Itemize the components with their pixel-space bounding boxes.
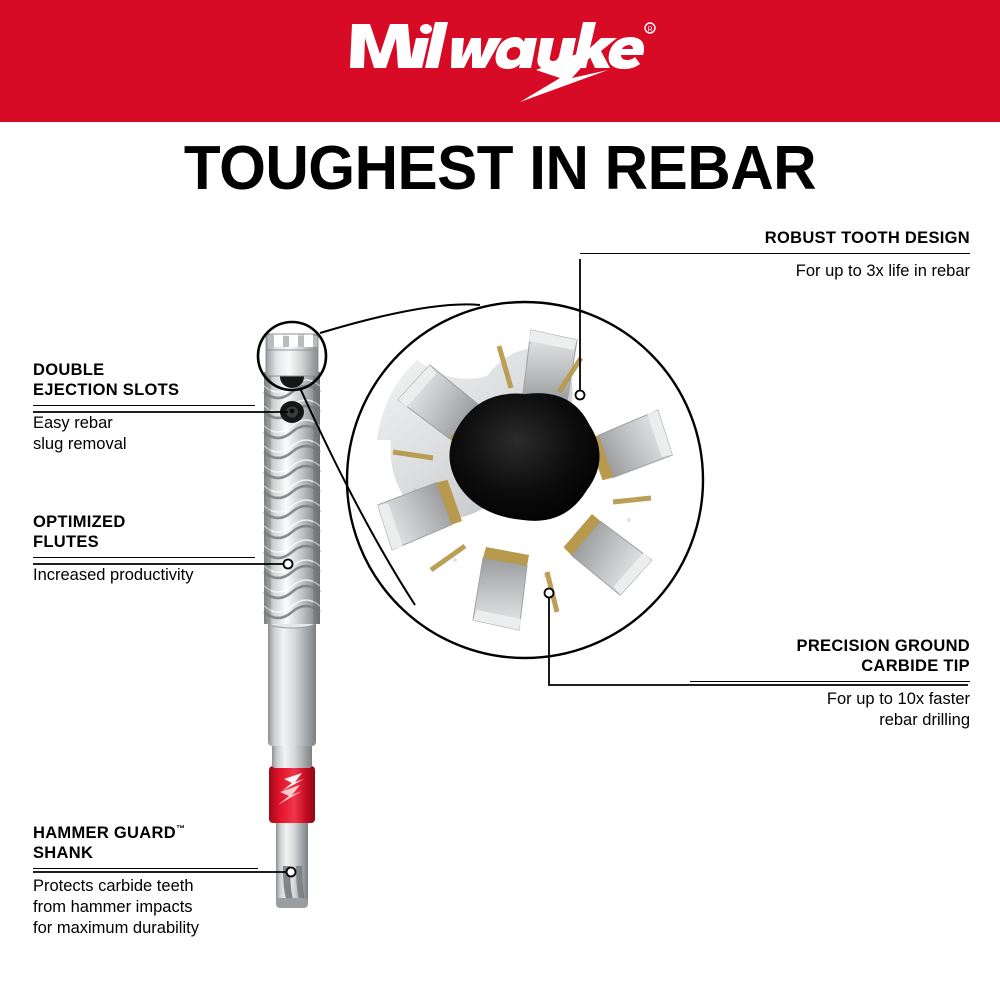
magnified-tip-detail [340, 295, 715, 670]
carbide-head [266, 334, 318, 376]
trademark-symbol: ™ [176, 824, 185, 834]
callout-description: Protects carbide teeth from hammer impac… [33, 876, 258, 939]
callout-title: PRECISION GROUND CARBIDE TIP [690, 636, 970, 676]
callout-title-line-2: CARBIDE TIP [690, 656, 970, 676]
drill-bit [264, 334, 320, 908]
callout-description: For up to 3x life in rebar [580, 261, 970, 282]
callout-title: DOUBLE EJECTION SLOTS [33, 360, 255, 400]
callout-desc-line-1: Increased productivity [33, 565, 255, 586]
callout-desc-line-1: Easy rebar [33, 413, 255, 434]
callout-description: For up to 10x faster rebar drilling [690, 689, 970, 731]
callout-double-ejection-slots: DOUBLE EJECTION SLOTS Easy rebar slug re… [33, 360, 255, 455]
callout-precision-ground-carbide-tip: PRECISION GROUND CARBIDE TIP For up to 1… [690, 636, 970, 731]
callout-desc-line-2: rebar drilling [690, 710, 970, 731]
callout-title-text: HAMMER GUARD [33, 824, 176, 842]
shaft-brand-band [269, 766, 315, 823]
callout-description: Increased productivity [33, 565, 255, 586]
callout-desc-line-3: for maximum durability [33, 918, 258, 939]
callout-rule [580, 253, 970, 254]
callout-rule [33, 868, 258, 869]
callout-desc-line-2: slug removal [33, 434, 255, 455]
callout-description: Easy rebar slug removal [33, 413, 255, 455]
callout-robust-tooth-design: ROBUST TOOTH DESIGN For up to 3x life in… [580, 228, 970, 282]
callout-title-line-2: SHANK [33, 843, 258, 863]
callout-title-line-1: PRECISION GROUND [690, 636, 970, 656]
callout-title: HAMMER GUARD™ SHANK [33, 823, 258, 863]
callout-title: ROBUST TOOTH DESIGN [580, 228, 970, 248]
callout-title-line-1: DOUBLE [33, 360, 255, 380]
infographic-canvas: R TOUGHEST IN REBAR [0, 0, 1000, 1000]
callout-rule [33, 405, 255, 406]
callout-rule [33, 557, 255, 558]
callout-title: OPTIMIZED FLUTES [33, 512, 255, 552]
callout-title-line-1: OPTIMIZED [33, 512, 255, 532]
callout-title-line-2: EJECTION SLOTS [33, 380, 255, 400]
callout-desc-line-2: from hammer impacts [33, 897, 258, 918]
callout-title-line-2: FLUTES [33, 532, 255, 552]
callout-desc-line-1: Protects carbide teeth [33, 876, 258, 897]
callout-rule [690, 681, 970, 682]
callout-desc-line-1: For up to 10x faster [690, 689, 970, 710]
callout-optimized-flutes: OPTIMIZED FLUTES Increased productivity [33, 512, 255, 586]
callout-hammer-guard-shank: HAMMER GUARD™ SHANK Protects carbide tee… [33, 823, 258, 940]
callout-title-line-1: HAMMER GUARD™ [33, 823, 258, 843]
